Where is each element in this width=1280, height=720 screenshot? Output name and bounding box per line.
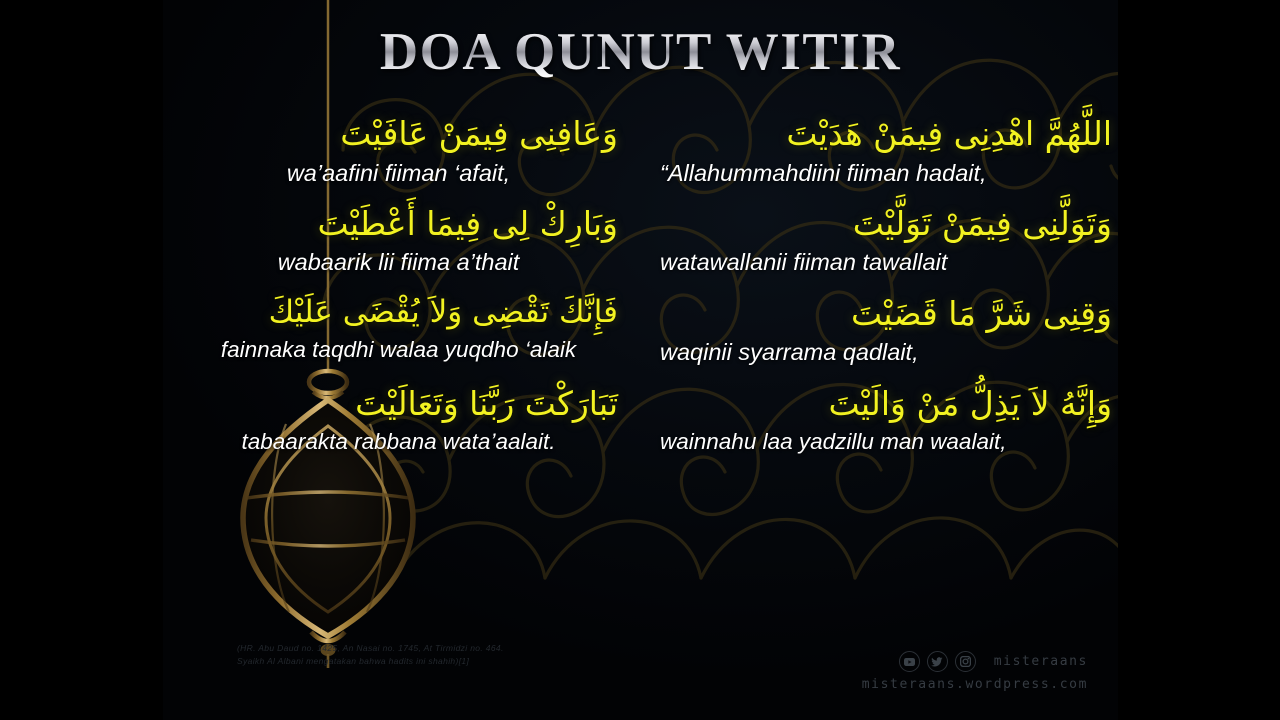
verse-cell-left: وَبَارِكْ لِى فِيمَا أَعْطَيْتَ wabaarik… (163, 202, 638, 278)
verse-row: اللَّهُمَّ اهْدِنِى فِيمَنْ هَدَيْتَ “Al… (163, 112, 1118, 188)
arabic-text: وَإِنَّهُ لاَ يَذِلُّ مَنْ وَالَيْتَ (646, 382, 1112, 426)
arabic-text: وَقِنِى شَرَّ مَا قَضَيْتَ (646, 292, 1112, 336)
letterbox-bar-right (1118, 0, 1280, 720)
verse-list: اللَّهُمَّ اهْدِنِى فِيمَنْ هَدَيْتَ “Al… (163, 112, 1118, 456)
verse-row: وَإِنَّهُ لاَ يَذِلُّ مَنْ وَالَيْتَ wai… (163, 382, 1118, 457)
transliteration-text: fainnaka taqdhi walaa yuqdho ‘alaik (169, 336, 628, 364)
presentation-slide: DOA QUNUT WITIR اللَّهُمَّ اهْدِنِى فِيم… (163, 0, 1118, 720)
verse-cell-right: وَتَوَلَّنِى فِيمَنْ تَوَلَّيْتَ watawal… (638, 202, 1118, 278)
verse-cell-left: تَبَارَكْتَ رَبَّنَا وَتَعَالَيْتَ tabaa… (163, 382, 638, 457)
slide-canvas: DOA QUNUT WITIR اللَّهُمَّ اهْدِنِى فِيم… (0, 0, 1280, 720)
transliteration-text: wabaarik lii fiima a’thait (169, 248, 628, 277)
transliteration-text: “Allahummahdiini fiiman hadait, (646, 159, 1112, 188)
arabic-text: وَتَوَلَّنِى فِيمَنْ تَوَلَّيْتَ (646, 202, 1112, 246)
letterbox-bar-left (0, 0, 163, 720)
verse-cell-right: اللَّهُمَّ اهْدِنِى فِيمَنْ هَدَيْتَ “Al… (638, 112, 1118, 188)
arabic-text: فَإِنَّكَ تَقْضِى وَلاَ يُقْضَى عَلَيْكَ (169, 292, 628, 333)
branding-block: misteraans misteraans.wordpress.com (862, 651, 1088, 692)
verse-cell-right: وَإِنَّهُ لاَ يَذِلُّ مَنْ وَالَيْتَ wai… (638, 382, 1118, 457)
brand-website: misteraans.wordpress.com (862, 677, 1088, 692)
arabic-text: تَبَارَكْتَ رَبَّنَا وَتَعَالَيْتَ (169, 382, 628, 426)
twitter-icon[interactable] (927, 651, 948, 672)
transliteration-text: watawallanii fiiman tawallait (646, 248, 1112, 277)
youtube-icon[interactable] (899, 651, 920, 672)
verse-cell-right: وَقِنِى شَرَّ مَا قَضَيْتَ waqinii syarr… (638, 292, 1118, 368)
hadith-citation: (HR. Abu Daud no. 1425, An Nasai no. 174… (237, 642, 567, 668)
brand-handle: misteraans (994, 654, 1088, 669)
instagram-icon[interactable] (955, 651, 976, 672)
arabic-text: اللَّهُمَّ اهْدِنِى فِيمَنْ هَدَيْتَ (646, 112, 1112, 156)
verse-cell-left: فَإِنَّكَ تَقْضِى وَلاَ يُقْضَى عَلَيْكَ… (163, 292, 638, 364)
citation-line-1: (HR. Abu Daud no. 1425, An Nasai no. 174… (237, 642, 567, 655)
verse-row: وَتَوَلَّنِى فِيمَنْ تَوَلَّيْتَ watawal… (163, 202, 1118, 278)
verse-row: وَقِنِى شَرَّ مَا قَضَيْتَ waqinii syarr… (163, 292, 1118, 368)
arabic-text: وَبَارِكْ لِى فِيمَا أَعْطَيْتَ (169, 202, 628, 246)
social-links-row: misteraans (862, 651, 1088, 672)
transliteration-text: tabaarakta rabbana wata’aalait. (169, 428, 628, 456)
transliteration-text: wainnahu laa yadzillu man waalait, (646, 428, 1112, 456)
page-title: DOA QUNUT WITIR (163, 22, 1118, 82)
arabic-text: وَعَافِنِى فِيمَنْ عَافَيْتَ (169, 112, 628, 156)
citation-line-2: Syaikh Al Albani mengatakan bahwa hadits… (237, 655, 567, 668)
transliteration-text: waqinii syarrama qadlait, (646, 338, 1112, 367)
verse-cell-left: وَعَافِنِى فِيمَنْ عَافَيْتَ wa’aafini f… (163, 112, 638, 188)
transliteration-text: wa’aafini fiiman ‘afait, (169, 159, 628, 188)
